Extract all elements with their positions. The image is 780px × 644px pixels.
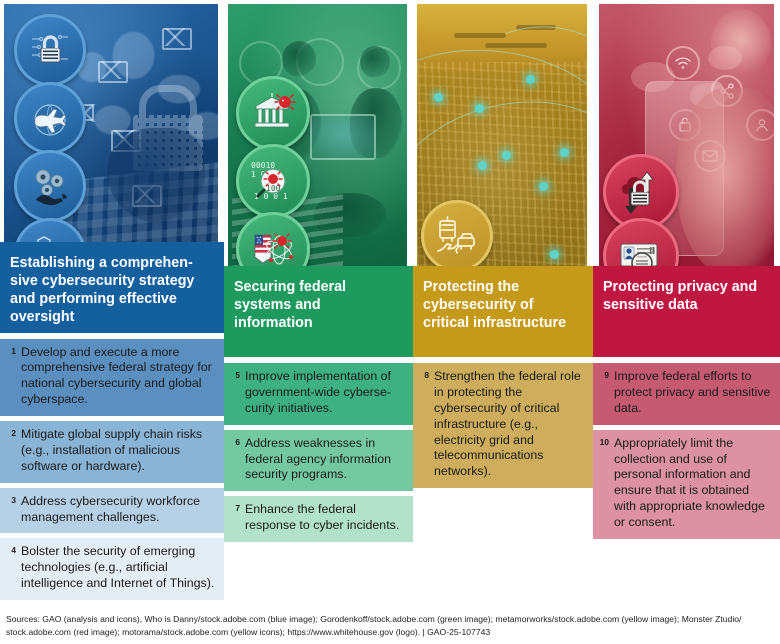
column-privacy-list: 9 Improve federal efforts to protect pri… bbox=[593, 357, 780, 600]
item-number: 1 bbox=[6, 345, 16, 355]
yellow-city-network-photo bbox=[417, 4, 587, 266]
column-strategy: Establishing a comprehen-sive cybersecur… bbox=[0, 0, 224, 600]
item-number: 9 bbox=[599, 369, 609, 379]
green-operations-photo: 00010 1 0 1 1 0 0 1 100 bbox=[228, 4, 407, 266]
column-critical-infrastructure-list: 8 Strengthen the federal role in protect… bbox=[413, 357, 593, 600]
list-item[interactable]: 1 Develop and execute a more comprehensi… bbox=[0, 339, 224, 417]
column-strategy-header: Establishing a comprehen-sive cybersecur… bbox=[0, 242, 224, 333]
list-item[interactable]: 4 Bolster the security of emerging techn… bbox=[0, 538, 224, 600]
list-item[interactable]: 2 Mitigate global supply chain risks (e.… bbox=[0, 421, 224, 483]
item-text: Address weaknesses in federal agency inf… bbox=[245, 436, 405, 484]
item-text: Develop and execute a more comprehensive… bbox=[21, 345, 216, 409]
source-note: Sources: GAO (analysis and icons), Who i… bbox=[6, 613, 774, 639]
list-item[interactable]: 9 Improve federal efforts to protect pri… bbox=[593, 363, 780, 425]
cybersecurity-challenges-infographic: Establishing a comprehen-sive cybersecur… bbox=[0, 0, 780, 644]
column-federal-systems: 00010 1 0 1 1 0 0 1 100 bbox=[224, 0, 413, 600]
list-item[interactable]: 8 Strengthen the federal role in protect… bbox=[413, 363, 593, 488]
column-critical-infrastructure: Protecting the cybersecurity of critical… bbox=[413, 0, 593, 600]
column-federal-systems-list: 5 Improve implementation of government-w… bbox=[224, 357, 413, 600]
government-building-bug-icon bbox=[236, 76, 310, 150]
column-critical-infrastructure-artwork bbox=[413, 0, 593, 266]
airplane-globe-icon bbox=[14, 82, 86, 154]
envelope-icon bbox=[98, 61, 128, 83]
item-text: Enhance the federal response to cyber in… bbox=[245, 502, 405, 534]
item-number: 6 bbox=[230, 436, 240, 446]
gears-hands-icon bbox=[14, 150, 86, 222]
source-note-line-1: Sources: GAO (analysis and icons), Who i… bbox=[6, 613, 774, 626]
column-critical-infrastructure-header: Protecting the cybersecurity of critical… bbox=[413, 266, 593, 357]
challenge-columns: Establishing a comprehen-sive cybersecur… bbox=[0, 0, 780, 600]
bokeh-blob bbox=[708, 46, 742, 70]
network-node bbox=[475, 104, 484, 113]
item-number: 3 bbox=[6, 494, 16, 504]
network-node bbox=[434, 93, 443, 102]
envelope-icon bbox=[162, 28, 192, 50]
item-text: Bolster the security of emerging technol… bbox=[21, 544, 216, 592]
column-federal-systems-artwork: 00010 1 0 1 1 0 0 1 100 bbox=[224, 0, 413, 266]
item-text: Appropriately limit the collection and u… bbox=[614, 436, 772, 531]
item-number: 2 bbox=[6, 427, 16, 437]
network-node bbox=[526, 75, 535, 84]
column-federal-systems-header: Securing federal systems and information bbox=[224, 266, 413, 357]
item-number: 10 bbox=[599, 436, 609, 446]
binary-magnifier-bug-icon: 00010 1 0 1 1 0 0 1 100 bbox=[236, 144, 310, 218]
wifi-icon bbox=[666, 46, 700, 80]
item-text: Address cybersecurity workforce manageme… bbox=[21, 494, 216, 526]
svg-text:100: 100 bbox=[266, 184, 281, 193]
network-node bbox=[550, 250, 559, 259]
network-node bbox=[502, 151, 511, 160]
list-item[interactable]: 10 Appropriately limit the collection an… bbox=[593, 430, 780, 539]
transit-vehicles-icon bbox=[421, 200, 493, 266]
column-privacy-artwork bbox=[593, 0, 780, 266]
list-item[interactable]: 5 Improve implementation of government-w… bbox=[224, 363, 413, 425]
item-number: 7 bbox=[230, 502, 240, 512]
column-strategy-artwork bbox=[0, 0, 224, 242]
padlock-circuit-icon bbox=[14, 14, 86, 86]
list-item[interactable]: 6 Address weaknesses in federal agency i… bbox=[224, 430, 413, 492]
item-number: 4 bbox=[6, 544, 16, 554]
column-strategy-list: 1 Develop and execute a more comprehensi… bbox=[0, 333, 224, 601]
list-item[interactable]: 3 Address cybersecurity workforce manage… bbox=[0, 488, 224, 534]
monitor-screen-graphic bbox=[310, 114, 376, 160]
item-text: Improve implementation of government-wid… bbox=[245, 369, 405, 417]
analyst-head-graphic bbox=[282, 41, 316, 77]
list-item[interactable]: 7 Enhance the federal response to cyber … bbox=[224, 496, 413, 542]
item-number: 8 bbox=[419, 369, 429, 379]
red-mobile-privacy-photo bbox=[599, 4, 774, 266]
column-privacy: Protecting privacy and sensitive data 9 … bbox=[593, 0, 780, 600]
item-text: Strengthen the federal role in protectin… bbox=[434, 369, 585, 480]
item-text: Mitigate global supply chain risks (e.g.… bbox=[21, 427, 216, 475]
column-privacy-header: Protecting privacy and sensitive data bbox=[593, 266, 780, 357]
hand-holding-phone-graphic bbox=[676, 88, 774, 266]
network-node bbox=[560, 148, 569, 157]
blue-cyber-photo bbox=[4, 4, 218, 242]
item-number: 5 bbox=[230, 369, 240, 379]
item-text: Improve federal efforts to protect priva… bbox=[614, 369, 772, 417]
source-note-line-2: stock.adobe.com (red image); motorama/st… bbox=[6, 626, 774, 639]
